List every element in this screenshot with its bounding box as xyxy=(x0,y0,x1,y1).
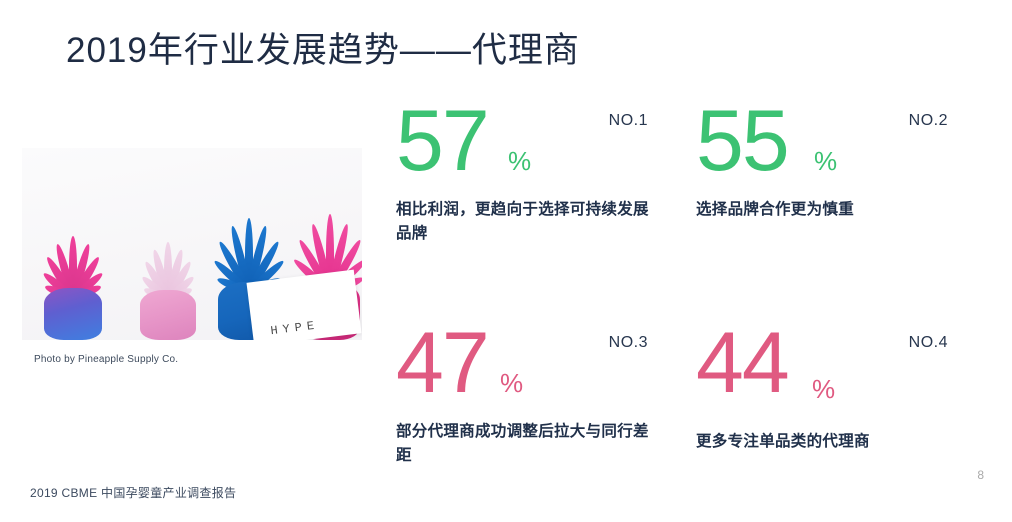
stat-description: 更多专注单品类的代理商 xyxy=(696,430,964,454)
pineapple-crown xyxy=(218,188,280,292)
stat-percent-sign: % xyxy=(814,146,837,177)
footer: 8 2019 CBME 中国孕婴童产业调查报告 xyxy=(0,476,1012,522)
stat-head: 55 % NO.2 xyxy=(696,106,996,198)
footer-source: 2019 CBME 中国孕婴童产业调查报告 xyxy=(30,484,236,501)
stat-head: 44 % NO.4 xyxy=(696,328,996,420)
stats-row: 47 % NO.3 部分代理商成功调整后拉大与同行差距 44 % NO.4 更多… xyxy=(396,328,996,468)
page-number: 8 xyxy=(977,468,984,482)
stat-rank-label: NO.4 xyxy=(909,334,948,352)
stat-value: 47 xyxy=(396,320,488,406)
pineapple-crown xyxy=(44,208,102,298)
stat-description: 相比利润，更趋向于选择可持续发展品牌 xyxy=(396,198,664,246)
hype-card-label: HYPE xyxy=(270,318,320,338)
stat-card-no2: 55 % NO.2 选择品牌合作更为慎重 xyxy=(696,106,996,246)
pineapple-crown xyxy=(140,218,196,300)
stat-value: 55 xyxy=(696,98,788,184)
stat-card-no4: 44 % NO.4 更多专注单品类的代理商 xyxy=(696,328,996,468)
pineapple-pale-pink-icon xyxy=(140,222,196,340)
stat-value: 57 xyxy=(396,98,488,184)
stat-percent-sign: % xyxy=(508,146,531,177)
stat-head: 57 % NO.1 xyxy=(396,106,696,198)
stat-head: 47 % NO.3 xyxy=(396,328,696,420)
pineapple-body xyxy=(140,290,196,340)
stat-rank-label: NO.1 xyxy=(609,112,648,130)
stat-value: 44 xyxy=(696,320,788,406)
stat-description: 选择品牌合作更为慎重 xyxy=(696,198,964,222)
photo-credit: Photo by Pineapple Supply Co. xyxy=(34,354,178,365)
stats-row: 57 % NO.1 相比利润，更趋向于选择可持续发展品牌 55 % NO.2 选… xyxy=(396,106,996,246)
stat-description: 部分代理商成功调整后拉大与同行差距 xyxy=(396,420,664,468)
hype-card: HYPE xyxy=(247,270,362,340)
stat-percent-sign: % xyxy=(500,368,523,399)
photo-block: HYPE Photo by Pineapple Supply Co. xyxy=(22,148,362,378)
pineapple-magenta-blue-icon xyxy=(44,212,102,340)
stats-grid: 57 % NO.1 相比利润，更趋向于选择可持续发展品牌 55 % NO.2 选… xyxy=(396,106,996,468)
page-title: 2019年行业发展趋势——代理商 xyxy=(66,22,580,73)
stat-rank-label: NO.3 xyxy=(609,334,648,352)
stat-card-no1: 57 % NO.1 相比利润，更趋向于选择可持续发展品牌 xyxy=(396,106,696,246)
pineapple-photo: HYPE xyxy=(22,148,362,340)
stat-percent-sign: % xyxy=(812,374,835,405)
stat-rank-label: NO.2 xyxy=(909,112,948,130)
pineapple-body xyxy=(44,288,102,340)
stat-card-no3: 47 % NO.3 部分代理商成功调整后拉大与同行差距 xyxy=(396,328,696,468)
